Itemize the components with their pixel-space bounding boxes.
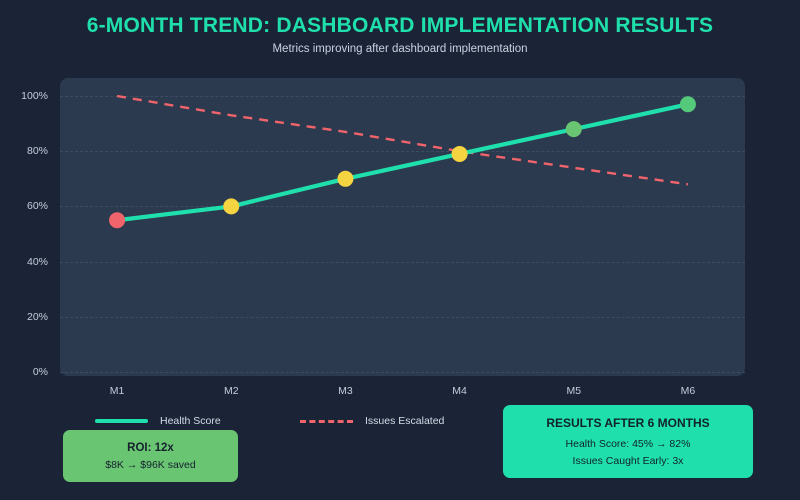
- chart-subtitle: Metrics improving after dashboard implem…: [0, 43, 800, 55]
- series-layer: [60, 78, 745, 376]
- data-point-m1[interactable]: [109, 212, 125, 228]
- series-line-health-score: [117, 104, 688, 220]
- y-tick-label: 80%: [2, 145, 48, 157]
- x-tick-label-m5: M5: [544, 385, 604, 397]
- results-metric-health-score: Health Score: 45% → 82%: [566, 438, 691, 450]
- roi-headline: ROI: 12x: [127, 442, 174, 454]
- data-point-m3[interactable]: [337, 171, 353, 187]
- y-tick-label: 60%: [2, 200, 48, 212]
- legend-swatch-icon: [300, 420, 353, 423]
- y-tick-label: 40%: [2, 256, 48, 268]
- roi-callout: ROI: 12x $8K → $96K saved: [63, 430, 238, 482]
- y-tick-label: 100%: [2, 90, 48, 102]
- page-title: 6-MONTH TREND: DASHBOARD IMPLEMENTATION …: [0, 14, 800, 38]
- x-tick-label-m6: M6: [658, 385, 718, 397]
- series-line-issues-escalated: [117, 96, 688, 184]
- data-point-m4[interactable]: [452, 146, 468, 162]
- x-tick-label-m1: M1: [87, 385, 147, 397]
- legend-swatch-icon: [95, 419, 148, 423]
- results-metric-issues-caught: Issues Caught Early: 3x: [573, 455, 684, 467]
- legend-label: Health Score: [160, 415, 221, 427]
- data-point-m6[interactable]: [680, 96, 696, 112]
- data-point-m5[interactable]: [566, 121, 582, 137]
- x-tick-label-m4: M4: [430, 385, 490, 397]
- results-callout: RESULTS AFTER 6 MONTHS Health Score: 45%…: [503, 405, 753, 478]
- legend: Health ScoreIssues Escalated: [95, 413, 495, 429]
- legend-label: Issues Escalated: [365, 415, 444, 427]
- x-tick-label-m3: M3: [315, 385, 375, 397]
- roi-detail: $8K → $96K saved: [105, 459, 195, 471]
- x-tick-label-m2: M2: [201, 385, 261, 397]
- results-heading: RESULTS AFTER 6 MONTHS: [546, 416, 709, 430]
- y-tick-label: 0%: [2, 366, 48, 378]
- legend-item-issues-escalated[interactable]: Issues Escalated: [300, 413, 444, 429]
- legend-item-health-score[interactable]: Health Score: [95, 413, 221, 429]
- data-point-m2[interactable]: [223, 198, 239, 214]
- plot-area: [60, 78, 745, 376]
- y-tick-label: 20%: [2, 311, 48, 323]
